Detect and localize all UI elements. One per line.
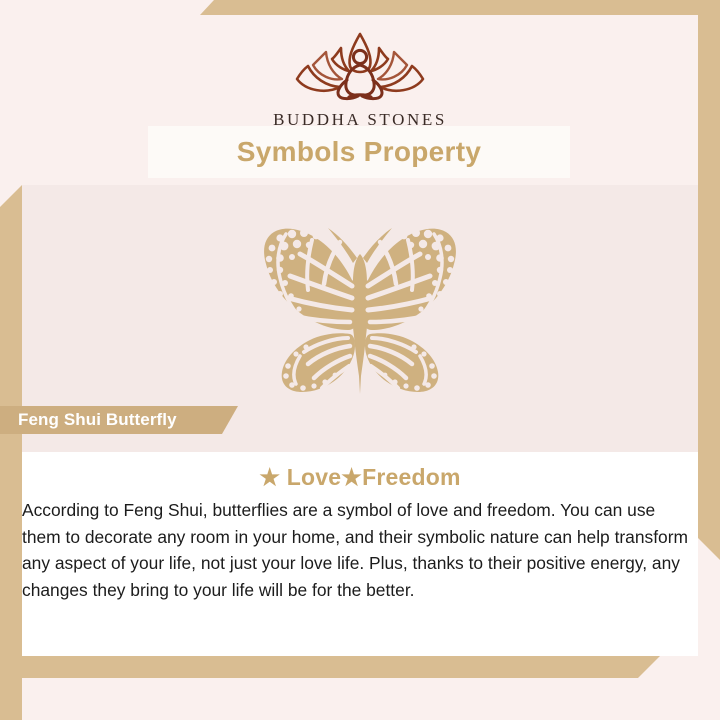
frame-band-top bbox=[200, 0, 720, 15]
promo-graphic: BUDDHA STONES Symbols Property bbox=[0, 0, 720, 720]
monarch-butterfly-icon bbox=[200, 206, 520, 398]
frame-band-bottom bbox=[0, 656, 660, 678]
description-paragraph: According to Feng Shui, butterflies are … bbox=[22, 497, 698, 603]
feng-shui-badge-label: Feng Shui Butterfly bbox=[18, 410, 177, 430]
feng-shui-badge: Feng Shui Butterfly bbox=[0, 406, 238, 434]
title-banner: Symbols Property bbox=[148, 126, 570, 178]
page-title: Symbols Property bbox=[237, 136, 481, 168]
brand-logo: BUDDHA STONES bbox=[0, 24, 720, 130]
lotus-meditation-figure-icon bbox=[286, 24, 434, 106]
butterfly-illustration bbox=[0, 206, 720, 398]
love-freedom-heading: ★ Love★Freedom bbox=[0, 464, 720, 491]
